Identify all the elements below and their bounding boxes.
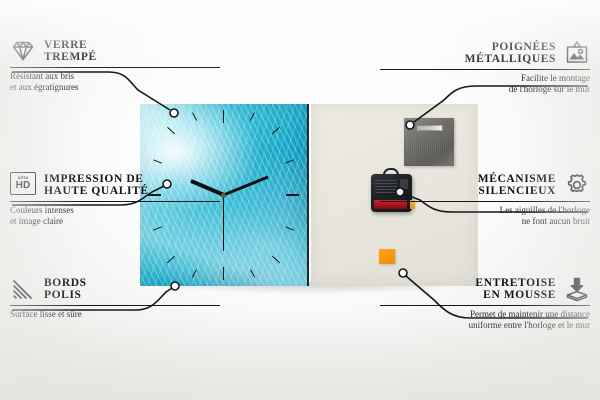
tick-mark [272, 127, 280, 135]
picture-frame-icon [564, 40, 590, 66]
callout-rule [380, 69, 590, 70]
polished-edges-icon [10, 276, 36, 302]
callout-entretoise-en-mousse: ENTRETOISE EN MOUSSE Permet de maintenir… [380, 276, 590, 330]
tick-mark [223, 267, 225, 280]
foam-spacer-part [379, 249, 395, 264]
callout-rule [10, 305, 220, 306]
callout-bords-polis: BORDS POLIS Surface lisse et sûre [10, 276, 220, 320]
callout-header: ultra HD IMPRESSION DE HAUTE QUALITÉ [10, 172, 220, 198]
callout-desc-line: ne font aucun bruit [380, 216, 590, 227]
tick-mark [272, 255, 280, 263]
infographic-canvas: VERRE TREMPÉ Résistant aux bris et aux é… [0, 0, 600, 400]
tick-mark [285, 226, 294, 231]
callout-rule [10, 67, 220, 68]
callout-poignees-metalliques: POIGNÉES MÉTALLIQUES Facilite le montage… [380, 40, 590, 94]
callout-desc-line: Couleurs intenses [10, 205, 220, 216]
tick-mark [286, 194, 299, 196]
ultra-hd-icon: ultra HD [10, 172, 36, 198]
tick-mark [250, 269, 255, 278]
clock-center-cap [221, 193, 226, 198]
callout-desc-line: Surface lisse et sûre [10, 309, 220, 320]
callout-header: POIGNÉES MÉTALLIQUES [380, 40, 590, 66]
callout-header: MÉCANISME SILENCIEUX [380, 172, 590, 198]
tick-mark [250, 112, 255, 121]
tick-mark [285, 159, 294, 164]
tick-mark [167, 127, 175, 135]
tick-mark [153, 226, 162, 231]
callout-title: ENTRETOISE EN MOUSSE [475, 277, 556, 302]
callout-title: VERRE TREMPÉ [44, 39, 97, 64]
gear-icon [564, 172, 590, 198]
callout-header: VERRE TREMPÉ [10, 38, 220, 64]
clock-minute-hand [223, 176, 269, 197]
callout-desc-line: et aux égratignures [10, 82, 220, 93]
callout-header: BORDS POLIS [10, 276, 220, 302]
tick-mark [192, 112, 197, 121]
metal-handle-part [404, 118, 454, 166]
callout-verre-trempe: VERRE TREMPÉ Résistant aux bris et aux é… [10, 38, 220, 92]
callout-desc-line: de l'horloge sur le mur [380, 84, 590, 95]
callout-title: IMPRESSION DE HAUTE QUALITÉ [44, 173, 149, 198]
tick-mark [167, 255, 175, 263]
callout-rule [10, 201, 220, 202]
callout-desc-line: Les aiguilles de l'horloge [380, 205, 590, 216]
diamond-icon [10, 38, 36, 64]
handle-slot [417, 125, 443, 131]
tick-mark [223, 110, 225, 123]
callout-mecanisme-silencieux: MÉCANISME SILENCIEUX Les aiguilles de l'… [380, 172, 590, 226]
callout-desc-line: uniforme entre l'horloge et le mur [380, 320, 590, 331]
callout-title: BORDS POLIS [44, 277, 87, 302]
ultra-hd-main-text: HD [16, 181, 31, 191]
callout-title: POIGNÉES MÉTALLIQUES [465, 41, 556, 66]
callout-header: ENTRETOISE EN MOUSSE [380, 276, 590, 302]
callout-desc-line: Résistant aux bris [10, 71, 220, 82]
callout-desc-line: et image claire [10, 216, 220, 227]
callout-impression-haute-qualite: ultra HD IMPRESSION DE HAUTE QUALITÉ Cou… [10, 172, 220, 226]
clock-second-hand [223, 195, 225, 251]
callout-rule [380, 305, 590, 306]
tick-mark [153, 159, 162, 164]
callout-desc-line: Permet de maintenir une distance [380, 309, 590, 320]
callout-rule [380, 201, 590, 202]
foam-spacer-icon [564, 276, 590, 302]
callout-title: MÉCANISME SILENCIEUX [478, 173, 556, 198]
callout-desc-line: Facilite le montage [380, 73, 590, 84]
